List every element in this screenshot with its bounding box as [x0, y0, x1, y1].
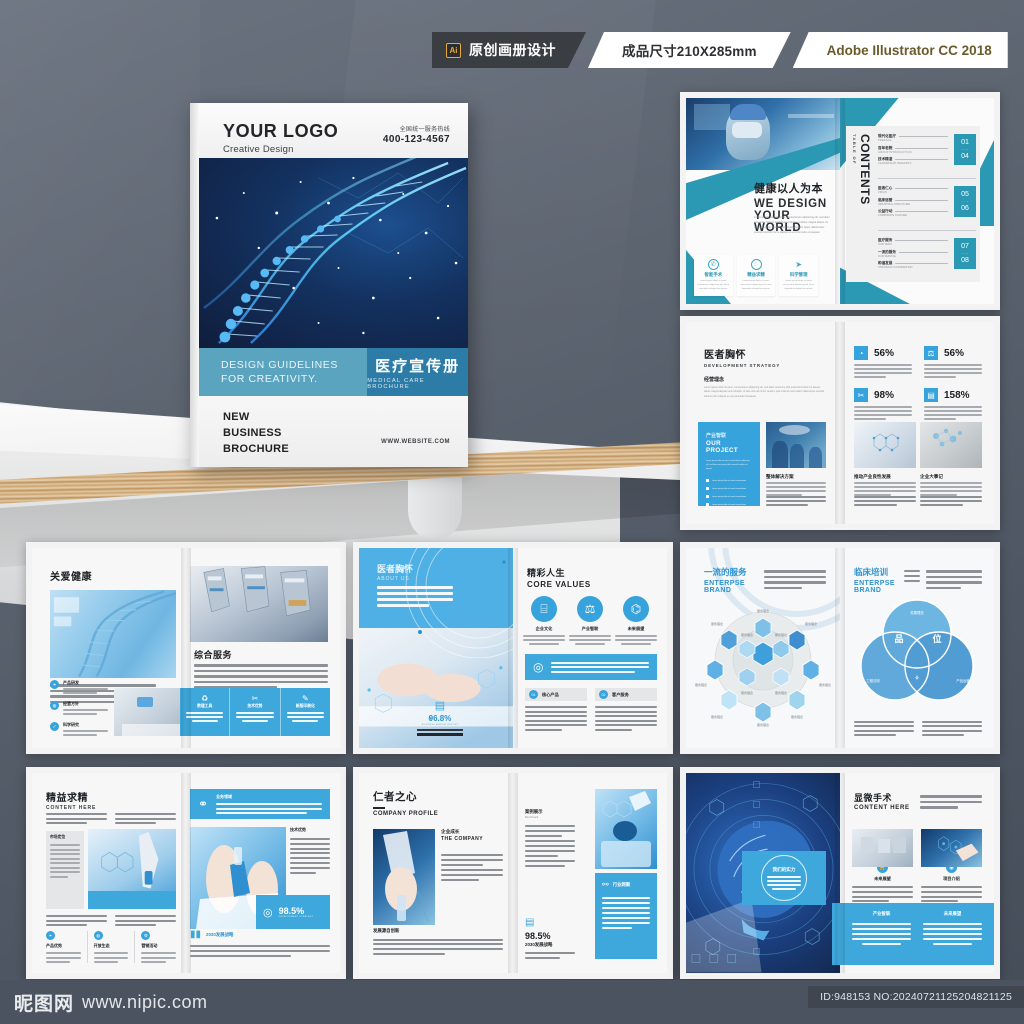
- dna-helix-icon: [199, 158, 468, 348]
- content-right-text: 技术优势: [290, 827, 330, 874]
- phone-circle-icon: ✆: [708, 259, 719, 270]
- toc-divider: [878, 178, 976, 179]
- toc-item-cn: 一流的服务: [878, 250, 896, 255]
- svg-text:效果理念: 效果理念: [910, 610, 924, 615]
- toc-label-small: TABLE OF: [852, 134, 857, 165]
- bottom-item-label: 产品优势: [46, 943, 81, 949]
- health-right-lines: [194, 664, 328, 689]
- surgery-band: 产业智联 未来展望: [832, 903, 994, 965]
- core-values-title-cn: 精彩人生: [527, 566, 591, 579]
- spread-profile-inner: 仁者之心 COMPANY PROFILE 企业成长 THE COMPANY 发展…: [359, 773, 667, 973]
- toc-item[interactable]: 和谐发展 STRATEGIC COOPERATION: [878, 261, 948, 269]
- core-values-title: 精彩人生 CORE VALUES: [527, 566, 591, 589]
- content-sidebar-cn: 市场定位: [50, 835, 80, 840]
- toc-item[interactable]: 医者仁心 VISION: [878, 186, 948, 194]
- project-bullet-text: Lorem ipsum dolor sit amet consectetuer: [712, 480, 746, 482]
- content-right-footer: ▮▮ 2030发展战略: [190, 929, 330, 957]
- nipic-logo: 昵图网: [14, 989, 74, 1016]
- project-bullet: Lorem ipsum dolor sit amet consectetuer: [706, 479, 752, 482]
- svg-text:工程法则: 工程法则: [866, 678, 880, 683]
- clock-icon: ◔: [854, 346, 868, 360]
- link-icon: ⚯: [602, 880, 609, 889]
- cover-footer-line3: BROCHURE: [223, 442, 289, 458]
- health-list: ❧ 产品研发 ◍ 经营方针 ✓ 科学研究: [50, 680, 108, 736]
- profile-mid: 企业成长 THE COMPANY: [441, 829, 503, 881]
- drop-icon: ◍: [50, 701, 59, 710]
- spread-health-inner: 关爱健康 ❧ 产品研发: [32, 548, 340, 748]
- vision-icon: ⌬: [623, 596, 649, 622]
- tools-icon: ✂: [236, 694, 273, 703]
- feature-text: Lorem ipsum dolor sit amet, consectetur …: [782, 280, 815, 292]
- cover-tagline-line2: FOR CREATIVITY.: [221, 372, 367, 386]
- building-icon: ⌸: [531, 596, 557, 622]
- about-title-cn: 医者胸怀: [377, 562, 413, 575]
- svg-text:服务理念: 服务理念: [695, 682, 707, 687]
- value-label: 未来展望: [615, 626, 657, 632]
- cover-footer-line1: NEW: [223, 410, 289, 426]
- header-ribbon: Ai 原创画册设计 成品尺寸210X285mm Adobe Illustrato…: [432, 32, 1008, 68]
- tag-label: 核心产品: [542, 692, 559, 698]
- toc-number: 01: [961, 139, 969, 146]
- ribbon-software-label: Adobe Illustrator CC 2018: [827, 43, 992, 58]
- content-top-lines: [46, 813, 176, 824]
- brand-left-lines: [764, 570, 826, 589]
- value-item[interactable]: ⌬ 未来展望: [615, 596, 657, 645]
- list-item[interactable]: ❧ 产品研发: [50, 680, 108, 694]
- toc-item-en: OUR SERVICE: [878, 255, 948, 258]
- content-title-cn: 精益求精: [46, 789, 96, 804]
- research-photo: [920, 422, 982, 468]
- surgery-title-cn: 显微手术: [854, 791, 910, 804]
- about-banner: ◎: [525, 654, 657, 680]
- toc-item[interactable]: 技术精湛 LEADERSHIP REMARKS: [878, 157, 948, 165]
- toc-item-en: INDUSTRIAL STRUCTURE: [878, 203, 948, 206]
- feature-card[interactable]: ◌ 精益求精 Lorem ipsum dolor sit amet, conse…: [737, 255, 776, 296]
- scissors-icon: ✂: [854, 388, 868, 402]
- strategy-caption-3: 企业大事记: [920, 474, 982, 480]
- toc-group: 医疗服务 OUR TEAM 一流的服务 OUR SERVICE 和谐发展 STR…: [878, 238, 976, 269]
- network-icon: ⚖: [577, 596, 603, 622]
- spread-contents: 健康以人为本 WE DESIGN YOUR WORLD Lorem ipsum …: [680, 92, 1000, 310]
- dna-photo: [50, 590, 176, 678]
- content-stat-value: 98.5%: [279, 906, 314, 916]
- toc-item-en: GROUP INTRODUCTION: [878, 151, 948, 154]
- bulb-icon: ◌: [751, 259, 762, 270]
- project-bullet: Lorem ipsum dolor sit amet consectetuer: [706, 503, 752, 506]
- feature-label: 智能手术: [697, 272, 730, 278]
- spread-about: 医者胸怀 ABOUT US ▤ 96.8% BUSINESS ANNUAL RE…: [353, 542, 673, 754]
- spread-spine: [835, 322, 845, 524]
- strategy-caption-2: 推动产业良性发展: [854, 474, 891, 480]
- leaf-icon: ❧: [50, 680, 59, 689]
- about-lines: [377, 586, 453, 607]
- stat-item: ⚖ 56%: [924, 346, 982, 378]
- gear-icon: ⚙: [141, 931, 150, 940]
- surgery-card[interactable]: ◉ 项目介绍: [921, 829, 982, 902]
- bottom-item-label: 开放生态: [94, 943, 129, 949]
- profile-side-panel: ⚯ 行业网聚: [595, 873, 657, 959]
- check-icon: ✓: [50, 722, 59, 731]
- profile-stat: ▤ 98.5% 2030发展战略: [525, 917, 575, 959]
- brain-photo: 我们的实力: [686, 773, 840, 973]
- svg-text:服务理念: 服务理念: [741, 632, 753, 637]
- surgery-photo: [766, 422, 826, 468]
- bottom-item[interactable]: ⚙ 营销活动: [134, 931, 176, 963]
- strategy-title-en: DEVELOPMENT STRATEGY: [704, 363, 780, 368]
- strategy-footer-lines: [766, 496, 826, 506]
- bar-chart-icon: ▮▮: [190, 929, 201, 940]
- strategy-subtitle: 经营理念: [704, 376, 724, 383]
- molecule-icon: [854, 422, 916, 468]
- project-body: Lorem ipsum dolor sit amet, consectetuer…: [706, 460, 752, 471]
- microscope-icon: [190, 566, 328, 642]
- toc-number: 08: [961, 257, 969, 264]
- spread-spine: [508, 548, 518, 748]
- bubbles-icon: [920, 422, 982, 468]
- surgery-right-page: 显微手术 CONTENT HERE 🔒 未来展望: [840, 773, 994, 973]
- profile-case-cn: 案例展示: [525, 809, 575, 815]
- watermark-bar: 昵图网 www.nipic.com ID:948153 NO:202407211…: [0, 980, 1024, 1024]
- spread-brand-inner: 一流的服务 ENTERPSE BRAND: [686, 548, 994, 748]
- toc-item[interactable]: 一流的服务 OUR SERVICE: [878, 250, 948, 258]
- contents-headline-en1: WE DESIGN: [754, 198, 840, 210]
- feature-text: Lorem ipsum dolor sit amet, consectetur …: [740, 280, 773, 292]
- about-stat-value: 96.8%: [417, 714, 463, 723]
- svg-text:位: 位: [932, 633, 941, 644]
- list-item[interactable]: ✓ 科学研究: [50, 722, 108, 736]
- spread-spine: [835, 548, 845, 748]
- brand-right-title: 临床培训 ENTERPSE BRAND: [854, 566, 895, 594]
- brand-right-title-en2: BRAND: [854, 587, 895, 594]
- strategy-title-cn: 医者胸怀: [704, 346, 780, 361]
- strategy-left-page: 医者胸怀 DEVELOPMENT STRATEGY 经营理念 Lorem ips…: [686, 322, 840, 524]
- strategy-stats: ◔ 56% ⚖ 56% ✂ 98%: [854, 346, 982, 420]
- list-item-label: 产品研发: [63, 680, 108, 686]
- toc-item[interactable]: 现代化医疗 PREFACE: [878, 134, 948, 142]
- svg-text:服务理念: 服务理念: [741, 690, 753, 695]
- pipette-photo: [88, 829, 176, 909]
- band-item[interactable]: ✂ 技术优势: [230, 688, 280, 736]
- project-cn: 产业智联: [706, 432, 752, 439]
- svg-text:服务理念: 服务理念: [757, 722, 769, 727]
- strategy-caption-1: 整体解决方案: [766, 474, 794, 480]
- content-title: 精益求精 CONTENT HERE: [46, 789, 96, 811]
- toc-number: 05: [961, 191, 969, 198]
- contents-headline-cn: 健康以人为本: [754, 180, 840, 196]
- toc-item-en: PREFACE: [878, 139, 948, 142]
- brand-left-title-en1: ENTERPSE: [704, 580, 747, 587]
- spread-spine: [835, 98, 845, 304]
- toc-number: 04: [961, 153, 969, 160]
- cover-tagline: DESIGN GUIDELINES FOR CREATIVITY.: [199, 348, 367, 396]
- tag-label: 客户服务: [612, 692, 629, 698]
- health-right-page: 综合服务 ♻ 数理工具 ✂ 技术优势 ✎ 新版印刷化: [186, 548, 340, 748]
- strategy-footer-lines-3: [920, 496, 982, 506]
- list-item[interactable]: ◍ 经营方针: [50, 701, 108, 715]
- spread-content-inner: 精益求精 CONTENT HERE 市场定位: [32, 773, 340, 973]
- strategy-right-page: ◔ 56% ⚖ 56% ✂ 98%: [840, 322, 994, 524]
- project-bullet: Lorem ipsum dolor sit amet consectetuer: [706, 495, 752, 498]
- feature-text: Lorem ipsum dolor sit amet, consectetur …: [697, 280, 730, 292]
- band-item[interactable]: 产业智联: [852, 911, 911, 957]
- project-bullet-text: Lorem ipsum dolor sit amet consectetuer: [712, 496, 746, 498]
- cover-footer-line2: BUSINESS: [223, 426, 289, 442]
- toc-item-en: CORPORATE CULTURE: [878, 214, 948, 217]
- bottom-item-label: 营销活动: [141, 943, 176, 949]
- spread-surgery: 我们的实力 显微手术 CONTENT HERE: [680, 767, 1000, 979]
- health-subtitle-cn: 综合服务: [194, 648, 232, 661]
- bullet-square-icon: [706, 495, 709, 498]
- toc-item[interactable]: 临床运营 INDUSTRIAL STRUCTURE: [878, 198, 948, 206]
- profile-case-en: Benchmark: [525, 816, 575, 819]
- bullet-square-icon: [706, 503, 709, 506]
- feature-label: 精益求精: [740, 272, 773, 278]
- toc-item-cn: 百年老院: [878, 146, 892, 151]
- pen-icon: ✎: [287, 694, 324, 703]
- contents-features: ✆ 智能手术 Lorem ipsum dolor sit amet, conse…: [694, 255, 818, 296]
- toc-number: 07: [961, 243, 969, 250]
- bottom-item[interactable]: ◍ 开放生态: [87, 931, 129, 963]
- brochure-cover: YOUR LOGO Creative Design 全国统一服务热线 400-1…: [190, 103, 468, 467]
- toc-label-big: CONTENTS: [858, 134, 872, 205]
- content-banner-cn: 业务领域: [216, 794, 322, 800]
- surgery-card-label: 项目介绍: [921, 876, 982, 882]
- cover-hotline-number: 400-123-4567: [383, 134, 450, 145]
- svg-text:品: 品: [894, 634, 903, 644]
- lab-flask-icon: [373, 829, 435, 925]
- profile-mid-cn: 企业成长: [441, 829, 503, 835]
- brand-right-minilines: [904, 570, 920, 582]
- toc-item-en: OUR TEAM: [878, 243, 948, 246]
- health-left-page: 关爱健康 ❧ 产品研发: [32, 548, 186, 748]
- stat-item: ◔ 56%: [854, 346, 912, 378]
- toc-divider: [878, 230, 976, 231]
- pipette-drop-photo: [595, 789, 657, 869]
- strategy-caption-2-lines: [854, 482, 916, 496]
- cover-website: WWW.WEBSITE.COM: [381, 439, 450, 445]
- surgery-card[interactable]: 🔒 未来展望: [852, 829, 913, 902]
- strategy-caption-1-lines: [766, 482, 826, 496]
- spread-content: 精益求精 CONTENT HERE 市场定位: [26, 767, 346, 979]
- lab-worker-photo: [373, 829, 435, 925]
- tag-item[interactable]: 02 客户服务: [595, 688, 657, 731]
- tag-item[interactable]: 01 核心产品: [525, 688, 587, 731]
- spread-profile: 仁者之心 COMPANY PROFILE 企业成长 THE COMPANY 发展…: [353, 767, 673, 979]
- spread-spine: [508, 773, 518, 973]
- svg-text:服务理念: 服务理念: [805, 621, 817, 626]
- list-item-label: 经营方针: [63, 701, 108, 707]
- brand-footer-lines: [854, 721, 982, 737]
- brand-right-page: 临床培训 ENTERPSE BRAND 效果理念工: [840, 548, 994, 748]
- lab-photo: [854, 422, 916, 468]
- microscope-photo: [190, 566, 328, 642]
- hex-wheel-diagram: 服务理念服务理念服务理念 服务理念服务理念服务理念 服务理念服务理念 服务理念服…: [686, 598, 840, 728]
- feature-label: 科学管理: [782, 272, 815, 278]
- value-item[interactable]: ⌸ 企业文化: [523, 596, 565, 645]
- stat-value: 98%: [874, 390, 894, 401]
- profile-title-en: COMPANY PROFILE: [373, 811, 438, 817]
- profile-title-cn: 仁者之心: [373, 789, 438, 804]
- content-sidebar: 市场定位: [46, 831, 84, 909]
- bullet-square-icon: [706, 479, 709, 482]
- project-bullets: Lorem ipsum dolor sit amet consectetuer …: [706, 479, 752, 506]
- svg-text:⚘: ⚘: [914, 675, 919, 682]
- profile-stat-caption-cn: 2030发展战略: [525, 942, 575, 948]
- band-item[interactable]: ✎ 新版印刷化: [281, 688, 330, 736]
- cover-title-en: MEDICAL CARE BROCHURE: [367, 378, 468, 390]
- project-panel: 产业智联 OUR PROJECT Lorem ipsum dolor sit a…: [698, 422, 760, 506]
- contents-body: Lorem ipsum dolor sit amet, consectetuer…: [754, 216, 832, 236]
- recycle-icon: ♻: [186, 694, 223, 703]
- stat-item: ✂ 98%: [854, 388, 912, 420]
- cover-title-cn: 医疗宣传册: [375, 355, 460, 376]
- surgery-card-label: 未来展望: [852, 876, 913, 882]
- spread-health: 关爱健康 ❧ 产品研发: [26, 542, 346, 754]
- svg-text:服务理念: 服务理念: [819, 682, 831, 687]
- value-label: 企业文化: [523, 626, 565, 632]
- strategy-caption-3-lines: [920, 482, 982, 496]
- bottom-item[interactable]: ❧ 产品优势: [46, 931, 81, 963]
- toc-item-en: VISION: [878, 191, 948, 194]
- surgery-overlay-card: 我们的实力: [742, 851, 826, 905]
- toc-item[interactable]: 百年老院 GROUP INTRODUCTION: [878, 146, 948, 154]
- toc-item[interactable]: 公益行动 CORPORATE CULTURE: [878, 209, 948, 217]
- health-band: ♻ 数理工具 ✂ 技术优势 ✎ 新版印刷化: [180, 688, 330, 736]
- drop-icon: ◍: [94, 931, 103, 940]
- content-left-page: 精益求精 CONTENT HERE 市场定位: [32, 773, 186, 973]
- brand-right-title-cn: 临床培训: [854, 566, 895, 578]
- feature-card[interactable]: ✆ 智能手术 Lorem ipsum dolor sit amet, conse…: [694, 255, 733, 296]
- profile-title: 仁者之心 COMPANY PROFILE: [373, 789, 438, 817]
- surgery-overlay-cn: 我们的实力: [773, 867, 796, 873]
- toc-number-block: 07 · · · 08: [954, 238, 976, 269]
- brand-right-lines: [926, 570, 982, 589]
- toc-item-cn: 临床运营: [878, 198, 892, 203]
- band-item-label: 产业智联: [852, 911, 911, 917]
- gear-circle-icon: ◎: [263, 906, 273, 919]
- content-stat-box: ◎ 98.5% DEVELOPMENT STRATEGY: [256, 895, 330, 929]
- stat-value: 56%: [944, 348, 964, 359]
- band-item-label: 数理工具: [186, 704, 223, 709]
- people-icon: ⚭: [198, 797, 208, 811]
- content-bottom-items: ❧ 产品优势 ◍ 开放生态 ⚙ 营销活动: [46, 931, 176, 963]
- stat-value: 158%: [944, 390, 970, 401]
- about-stat-caption: BUSINESS ANNUAL REPORT: [417, 724, 463, 726]
- profile-mid-en: THE COMPANY: [441, 836, 503, 842]
- target-icon: ◎: [533, 660, 543, 674]
- cover-logo-main: YOUR LOGO: [223, 121, 338, 142]
- profile-bottom: 发展源自创新: [373, 928, 503, 955]
- project-bullet: Lorem ipsum dolor sit amet consectetuer: [706, 487, 752, 490]
- scale-icon: ⚖: [924, 346, 938, 360]
- ribbon-original-design: Ai 原创画册设计: [432, 32, 586, 68]
- brand-left-title: 一流的服务 ENTERPSE BRAND: [704, 566, 747, 594]
- project-en: OUR PROJECT: [706, 440, 752, 454]
- toc-number: 06: [961, 205, 969, 212]
- strategy-body: Lorem ipsum dolor sit amet, consectetuer…: [704, 386, 826, 399]
- toc-item[interactable]: 医疗服务 OUR TEAM: [878, 238, 948, 246]
- bullet-square-icon: [706, 487, 709, 490]
- nipic-url: www.nipic.com: [82, 992, 208, 1013]
- profile-bottom-cn: 发展源自创新: [373, 928, 503, 934]
- cover-title-block: 医疗宣传册 MEDICAL CARE BROCHURE: [367, 348, 468, 396]
- strategy-footer-lines-2: [854, 496, 916, 506]
- toc-item-en: LEADERSHIP REMARKS: [878, 162, 948, 165]
- paper-plane-icon: ➤: [793, 259, 804, 270]
- venn-diagram: 效果理念工程法则产品运营 品位 ⚘: [840, 594, 994, 714]
- spread-spine: [835, 773, 845, 973]
- cover-header: YOUR LOGO Creative Design 全国统一服务热线 400-1…: [199, 103, 468, 158]
- stat-item: ▤ 158%: [924, 388, 982, 420]
- spread-spine: [181, 548, 191, 748]
- value-item[interactable]: ⚖ 产业智联: [569, 596, 611, 645]
- band-item-label: 技术优势: [236, 704, 273, 709]
- content-stat-caption-cn: 2030发展战略: [206, 932, 233, 938]
- pipette-icon: [595, 789, 657, 869]
- wall-shadow-right: [0, 0, 200, 400]
- profile-side-cn: 行业网聚: [613, 882, 631, 888]
- value-label: 产业智联: [569, 626, 611, 632]
- spread-about-inner: 医者胸怀 ABOUT US ▤ 96.8% BUSINESS ANNUAL RE…: [359, 548, 667, 748]
- brand-right-title-en1: ENTERPSE: [854, 580, 895, 587]
- profile-stat-value: 98.5%: [525, 931, 575, 941]
- svg-text:服务理念: 服务理念: [791, 714, 803, 719]
- spread-spine: [181, 773, 191, 973]
- core-values-items: ⌸ 企业文化 ⚖ 产业智联 ⌬ 未来展望: [523, 596, 657, 645]
- profile-case: 案例展示 Benchmark: [525, 809, 575, 867]
- svg-text:服务理念: 服务理念: [757, 608, 769, 613]
- molecule-icon: [88, 829, 176, 909]
- toc-group: 现代化医疗 PREFACE 百年老院 GROUP INTRODUCTION 技术…: [878, 134, 976, 165]
- about-left-page: 医者胸怀 ABOUT US ▤ 96.8% BUSINESS ANNUAL RE…: [359, 548, 513, 748]
- svg-text:产品运营: 产品运营: [956, 678, 970, 683]
- ribbon-original-design-label: 原创画册设计: [469, 40, 556, 60]
- health-title-cn: 关爱健康: [50, 568, 92, 583]
- cover-logo: YOUR LOGO Creative Design: [223, 121, 338, 155]
- about-title-en: ABOUT US: [377, 576, 413, 582]
- contents-right-page: TABLE OF CONTENTS 现代化医疗 PREFACE 百年老院 GRO…: [840, 98, 994, 304]
- feature-card[interactable]: ➤ 科学管理 Lorem ipsum dolor sit amet, conse…: [779, 255, 818, 296]
- cover-title-band: DESIGN GUIDELINES FOR CREATIVITY. 医疗宣传册 …: [199, 348, 468, 396]
- spread-strategy-inner: 医者胸怀 DEVELOPMENT STRATEGY 经营理念 Lorem ips…: [686, 322, 994, 524]
- stat-value: 56%: [874, 348, 894, 359]
- chart-icon: ▤: [417, 699, 463, 712]
- spread-brand: 一流的服务 ENTERPSE BRAND: [680, 542, 1000, 754]
- brand-left-title-en2: BRAND: [704, 587, 747, 594]
- content-mid-lines: [46, 915, 176, 926]
- content-stat-caption-small: DEVELOPMENT STRATEGY: [279, 916, 314, 918]
- svg-text:服务理念: 服务理念: [711, 714, 723, 719]
- profile-left-page: 仁者之心 COMPANY PROFILE 企业成长 THE COMPANY 发展…: [359, 773, 513, 973]
- profile-title-rule: [373, 807, 385, 809]
- profile-right-page: 案例展示 Benchmark ▤ 98.5% 2030发展战略: [513, 773, 667, 973]
- core-values-title-en: CORE VALUES: [527, 580, 591, 589]
- content-right-cn: 技术优势: [290, 827, 330, 833]
- asset-id-badge: ID:948153 NO:20240721125204821125: [808, 986, 1024, 1008]
- surgery-cards: 🔒 未来展望 ◉ 项目介绍: [852, 829, 982, 902]
- cover-tagline-line1: DESIGN GUIDELINES: [221, 358, 367, 372]
- list-item-label: 科学研究: [63, 722, 108, 728]
- toc-number-block: 01 · · · 04: [954, 134, 976, 165]
- about-right-page: 精彩人生 CORE VALUES ⌸ 企业文化 ⚖ 产业智联 ⌬ 未来展望: [513, 548, 667, 748]
- project-bullet-text: Lorem ipsum dolor sit amet consectetuer: [712, 504, 746, 506]
- chart-icon: ▤: [525, 917, 575, 928]
- svg-text:服务理念: 服务理念: [711, 621, 723, 626]
- surgery-title: 显微手术 CONTENT HERE: [854, 791, 910, 811]
- dna-helix-icon: [50, 590, 176, 678]
- band-item[interactable]: 未来展望: [923, 911, 982, 957]
- cover-hotline-label: 全国统一服务热线: [383, 124, 450, 133]
